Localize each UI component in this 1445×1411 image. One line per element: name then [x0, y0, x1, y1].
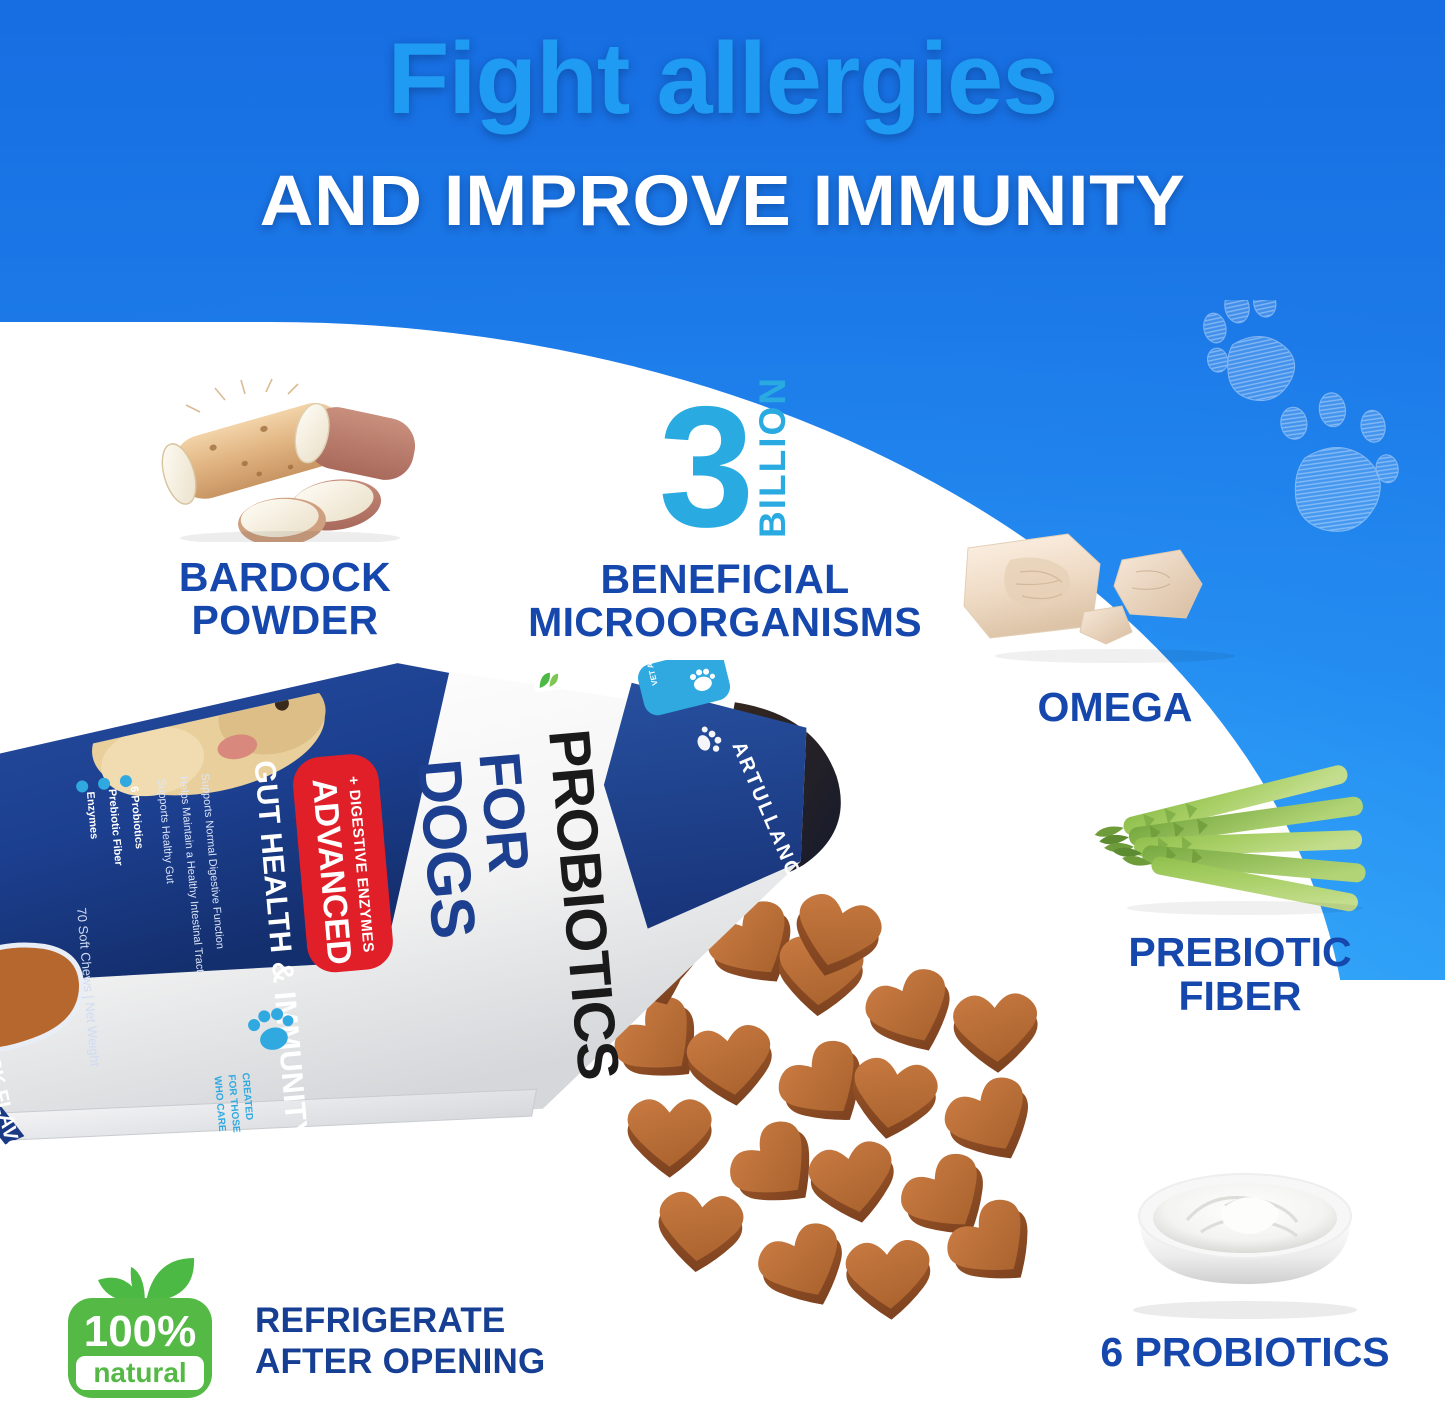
feature-caption-bardock: BARDOCK POWDER	[120, 556, 450, 643]
refrigerate-line-1: REFRIGERATE	[255, 1300, 585, 1341]
asparagus-photo	[1070, 760, 1410, 920]
feature-prebiotic-fiber: PREBIOTIC FIBER	[1070, 760, 1410, 1019]
feature-omega: OMEGA	[950, 520, 1280, 729]
burdock-root-photo	[120, 372, 450, 542]
feature-caption-fiber: PREBIOTIC FIBER	[1070, 930, 1410, 1019]
brewers-yeast-photo	[950, 520, 1280, 670]
feature-bardock-powder: BARDOCK POWDER	[120, 372, 450, 643]
page-headline: Fight allergies	[0, 28, 1445, 131]
feature-caption-microorganisms: BENEFICIAL MICROORGANISMS	[455, 558, 995, 645]
product-bag: ARTULLANO VET APPROVED PROBIOTICS	[0, 660, 920, 1220]
feature-caption-probiotics: 6 PROBIOTICS	[1055, 1331, 1435, 1374]
cfu-number: 3	[659, 397, 749, 538]
yogurt-bowl-photo	[1055, 1150, 1435, 1325]
refrigerate-line-2: AFTER OPENING	[255, 1341, 585, 1382]
page-subheadline: AND IMPROVE IMMUNITY	[0, 166, 1445, 238]
cfu-count: 3 BILLION	[455, 378, 995, 538]
natural-word: natural	[93, 1357, 186, 1388]
natural-percent: 100%	[84, 1307, 197, 1356]
feature-caption-omega: OMEGA	[950, 686, 1280, 729]
product-infographic: Fight allergies AND IMPROVE IMMUNITY	[0, 0, 1445, 1411]
natural-badge: 100% natural	[62, 1252, 222, 1402]
paw-print-icon	[1185, 300, 1445, 550]
feature-probiotics: 6 PROBIOTICS	[1055, 1150, 1435, 1374]
cfu-unit: BILLION	[754, 372, 791, 538]
feature-beneficial-microorganisms: 3 BILLION BENEFICIAL MICROORGANISMS	[455, 378, 995, 645]
refrigerate-note: REFRIGERATE AFTER OPENING	[255, 1300, 585, 1383]
